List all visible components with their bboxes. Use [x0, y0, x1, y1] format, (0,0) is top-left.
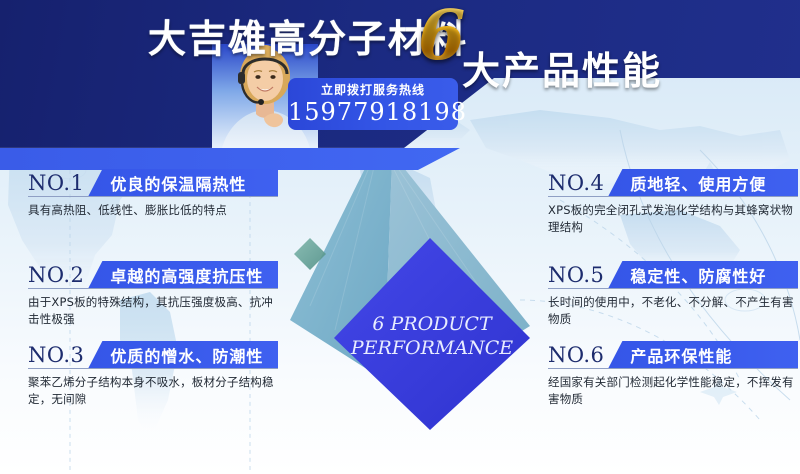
- banner-root: 6 PRODUCT PERFORMANCE: [0, 0, 800, 474]
- hotline-box[interactable]: 立即拨打服务热线 15977918198: [288, 78, 458, 130]
- feature-number: NO.6: [548, 342, 608, 368]
- hotline-number[interactable]: 15977918198: [288, 98, 458, 126]
- feature-divider: [548, 368, 798, 369]
- feature-description: 长时间的使用中，不老化、不分解、不产生有害物质: [548, 294, 798, 328]
- feature-item-2: NO.2 卓越的高强度抗压性 由于XPS板的特殊结构，其抗压强度极高、抗冲击性极…: [28, 258, 278, 328]
- feature-number: NO.4: [548, 170, 608, 196]
- feature-title-bar: 卓越的高强度抗压性: [88, 261, 278, 288]
- feature-heading-row: NO.4 质地轻、使用方便: [548, 166, 798, 196]
- feature-divider: [28, 368, 278, 369]
- hotline-label: 立即拨打服务热线: [288, 82, 458, 98]
- feature-description: 具有高热阻、低线性、膨胀比低的特点: [28, 202, 278, 219]
- feature-heading-row: NO.2 卓越的高强度抗压性: [28, 258, 278, 288]
- feature-title-bar: 稳定性、防腐性好: [608, 261, 798, 288]
- feature-title: 稳定性、防腐性好: [608, 263, 766, 287]
- feature-heading-row: NO.5 稳定性、防腐性好: [548, 258, 798, 288]
- feature-description: XPS板的完全闭孔式发泡化学结构与其蜂窝状物理结构: [548, 202, 798, 236]
- feature-title: 卓越的高强度抗压性: [88, 263, 263, 287]
- feature-description: 经国家有关部门检测起化学性能稳定，不挥发有害物质: [548, 374, 798, 408]
- feature-item-3: NO.3 优质的憎水、防潮性 聚苯乙烯分子结构本身不吸水，板材分子结构稳定，无间…: [28, 338, 278, 408]
- feature-title-bar: 质地轻、使用方便: [608, 169, 798, 196]
- feature-title-bar: 产品环保性能: [608, 341, 798, 368]
- feature-heading-row: NO.1 优良的保温隔热性: [28, 166, 278, 196]
- feature-title-bar: 优质的憎水、防潮性: [88, 341, 278, 368]
- center-caption-line2: PERFORMANCE: [350, 337, 513, 359]
- feature-item-5: NO.5 稳定性、防腐性好 长时间的使用中，不老化、不分解、不产生有害物质: [548, 258, 798, 328]
- feature-heading-row: NO.3 优质的憎水、防潮性: [28, 338, 278, 368]
- feature-item-6: NO.6 产品环保性能 经国家有关部门检测起化学性能稳定，不挥发有害物质: [548, 338, 798, 408]
- feature-number: NO.3: [28, 342, 88, 368]
- feature-divider: [28, 288, 278, 289]
- feature-number: NO.2: [28, 262, 88, 288]
- feature-item-1: NO.1 优良的保温隔热性 具有高热阻、低线性、膨胀比低的特点: [28, 166, 278, 219]
- feature-divider: [548, 288, 798, 289]
- feature-item-4: NO.4 质地轻、使用方便 XPS板的完全闭孔式发泡化学结构与其蜂窝状物理结构: [548, 166, 798, 236]
- feature-description: 由于XPS板的特殊结构，其抗压强度极高、抗冲击性极强: [28, 294, 278, 328]
- center-caption-line1: 6 PRODUCT: [372, 313, 493, 335]
- feature-divider: [548, 196, 798, 197]
- feature-title: 产品环保性能: [608, 343, 732, 367]
- feature-title: 优良的保温隔热性: [88, 171, 246, 195]
- feature-number: NO.1: [28, 170, 88, 196]
- feature-title-bar: 优良的保温隔热性: [88, 169, 278, 196]
- feature-number: NO.5: [548, 262, 608, 288]
- feature-description: 聚苯乙烯分子结构本身不吸水，板材分子结构稳定，无间隙: [28, 374, 278, 408]
- feature-title: 质地轻、使用方便: [608, 171, 766, 195]
- feature-divider: [28, 196, 278, 197]
- feature-heading-row: NO.6 产品环保性能: [548, 338, 798, 368]
- center-product-graphic: 6 PRODUCT PERFORMANCE: [280, 130, 540, 430]
- feature-title: 优质的憎水、防潮性: [88, 343, 263, 367]
